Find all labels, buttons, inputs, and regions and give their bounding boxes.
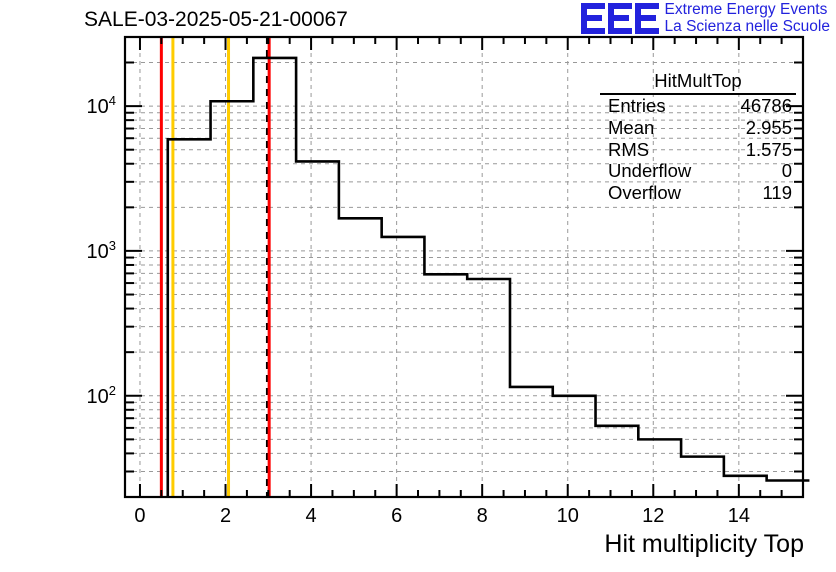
x-tick-label: 12 <box>642 505 664 528</box>
stats-key: RMS <box>608 139 649 161</box>
stats-row: Overflow 119 <box>600 182 796 204</box>
stats-key: Mean <box>608 117 654 139</box>
stats-value: 2.955 <box>746 117 792 139</box>
eee-mark-icon <box>581 3 659 34</box>
stats-value: 0 <box>782 160 792 182</box>
eee-logo-line2: La Scienza nelle Scuole <box>665 19 830 36</box>
y-tick-label: 102 <box>58 383 116 409</box>
x-axis-title: Hit multiplicity Top <box>604 530 804 559</box>
x-tick-label: 0 <box>134 505 145 528</box>
stats-row: Entries 46786 <box>600 95 796 117</box>
y-tick-label: 103 <box>58 238 116 264</box>
x-tick-label: 8 <box>477 505 488 528</box>
stats-box: HitMultTop Entries 46786 Mean 2.955 RMS … <box>600 70 796 204</box>
stats-value: 46786 <box>741 95 792 117</box>
x-tick-label: 10 <box>557 505 579 528</box>
stats-key: Underflow <box>608 160 691 182</box>
x-tick-label: 2 <box>220 505 231 528</box>
x-tick-label: 4 <box>306 505 317 528</box>
stats-value: 119 <box>763 182 793 204</box>
stats-row: RMS 1.575 <box>600 139 796 161</box>
x-tick-label: 14 <box>728 505 750 528</box>
stats-key: Entries <box>608 95 666 117</box>
eee-logo-line1: Extreme Energy Events <box>665 2 830 19</box>
stats-row: Mean 2.955 <box>600 117 796 139</box>
x-tick-label: 6 <box>391 505 402 528</box>
stats-row: Underflow 0 <box>600 160 796 182</box>
eee-logo-text: Extreme Energy Events La Scienza nelle S… <box>665 2 830 35</box>
stats-value: 1.575 <box>746 139 792 161</box>
stats-key: Overflow <box>608 182 681 204</box>
page-title: SALE-03-2025-05-21-00067 <box>84 8 348 32</box>
y-tick-label: 104 <box>58 93 116 119</box>
eee-logo: Extreme Energy Events La Scienza nelle S… <box>581 2 830 35</box>
stats-title: HitMultTop <box>600 70 796 95</box>
